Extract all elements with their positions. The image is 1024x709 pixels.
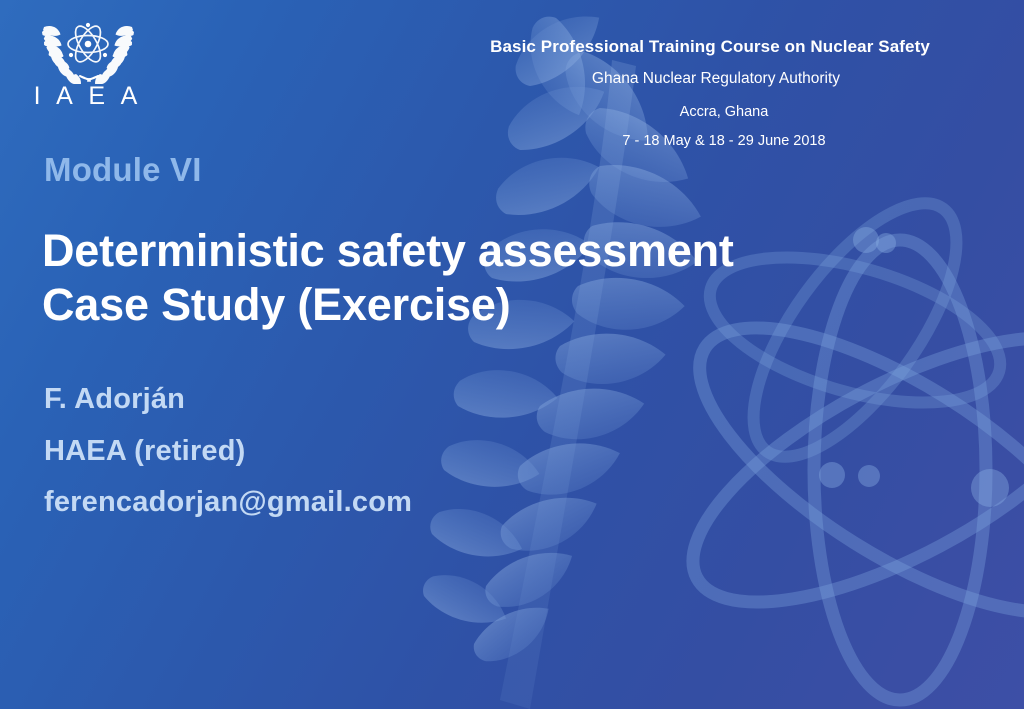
iaea-wordmark: I A E A [26,84,150,109]
event-dates: 7 - 18 May & 18 - 29 June 2018 [458,133,990,149]
header-block: Basic Professional Training Course on Nu… [430,36,990,149]
organization-name: Ghana Nuclear Regulatory Authority [442,70,990,88]
course-title: Basic Professional Training Course on Nu… [430,36,990,57]
title-line-1: Deterministic safety assessment [42,224,842,278]
author-email: ferencadorjan@gmail.com [44,477,604,529]
module-label: Module VI [44,152,202,188]
iaea-atom-wreath-icon [30,14,146,84]
author-block: F. Adorján HAEA (retired) ferencadorjan@… [44,374,604,529]
event-location: Accra, Ghana [458,104,990,120]
author-name: F. Adorján [44,374,604,426]
iaea-logo: I A E A [26,14,150,110]
author-affiliation: HAEA (retired) [44,426,604,478]
title-slide: I A E A Basic Professional Training Cour… [0,0,1024,709]
title-line-2: Case Study (Exercise) [42,278,842,332]
page-title: Deterministic safety assessment Case Stu… [42,224,842,332]
